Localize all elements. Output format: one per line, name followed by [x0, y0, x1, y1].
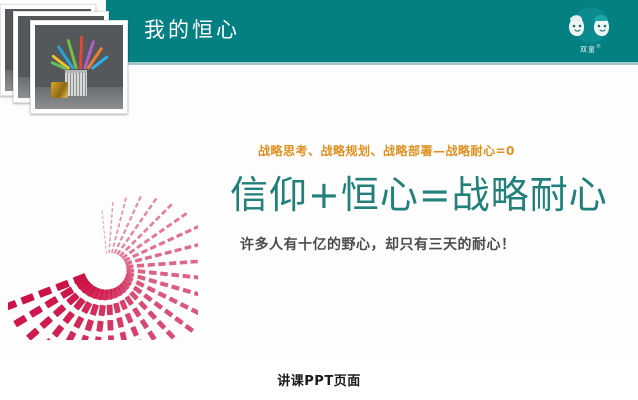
fan-dash [80, 335, 89, 340]
fan-dash [112, 202, 114, 206]
fan-dash [171, 273, 179, 278]
fan-dash [129, 216, 133, 221]
fan-dash [138, 269, 146, 274]
fan-dash [120, 331, 128, 340]
fan-dash [174, 247, 181, 252]
fan-dash [104, 231, 105, 234]
fan-dash [126, 222, 130, 227]
fan-dash [149, 270, 157, 275]
fan-dash [190, 260, 197, 264]
fan-dash [121, 243, 126, 249]
fan-dash [39, 316, 53, 329]
fan-dash [114, 236, 117, 241]
fan-dash [107, 320, 113, 331]
fan-dash [182, 288, 191, 294]
fan-dash [44, 296, 58, 308]
fan-dash [13, 315, 27, 327]
headline-text: 信仰+恒心=战略耐心 [230, 172, 610, 218]
fan-dash [146, 286, 155, 294]
fan-dash [53, 304, 67, 317]
fan-dash [182, 274, 190, 279]
fan-dash [160, 281, 169, 287]
brand-name-text: 双童 [580, 45, 596, 53]
fan-dash [26, 328, 40, 340]
fan-dash [148, 278, 157, 284]
kicker-text: 战略思考、战略规划、战略部署—战略耐心=0 [258, 142, 578, 159]
fan-dash [123, 229, 127, 234]
fan-dash [104, 236, 105, 239]
fan-dash [109, 243, 111, 247]
fan-dash [185, 228, 192, 234]
fan-dash [111, 249, 114, 254]
photo-stack [0, 4, 132, 116]
fan-dash [107, 305, 113, 316]
fan-dash [155, 253, 162, 258]
fan-dash [184, 245, 191, 250]
fan-dash [145, 255, 152, 260]
fan-dash [136, 339, 145, 340]
fan-dash [166, 223, 173, 229]
fan-dash [143, 293, 153, 302]
fan-dash [135, 258, 142, 263]
fan-dash [147, 330, 156, 340]
fan-dash [106, 250, 107, 253]
presentation-slide: 我的恒心 双童® [0, 0, 638, 359]
fan-dash [132, 209, 136, 214]
fan-dash [52, 324, 64, 337]
fan-dash [160, 272, 168, 277]
two-children-icon [558, 6, 624, 46]
photo-thumbnail [30, 20, 128, 114]
fan-dash [111, 220, 113, 224]
fan-dash [135, 203, 139, 208]
fan-dash [141, 249, 148, 255]
spiral-fan-svg [8, 160, 198, 340]
fan-dash [103, 226, 104, 229]
fan-dash [167, 203, 173, 209]
fan-dash [167, 236, 174, 242]
fan-dash [151, 233, 158, 239]
fan-dash [122, 204, 125, 209]
fan-dash [144, 238, 151, 244]
fan-dash [138, 196, 142, 201]
fan-dash [194, 242, 198, 247]
fan-dash [108, 335, 114, 340]
fan-dash [8, 300, 17, 311]
fan-dash [125, 245, 131, 251]
fan-dash [129, 248, 136, 254]
gold-object [51, 82, 68, 98]
fan-dash [113, 242, 116, 247]
fan-dash [171, 284, 180, 290]
fan-dash [132, 253, 139, 259]
fan-dash [173, 217, 180, 223]
straw-cup [65, 70, 87, 96]
fan-dash [194, 275, 198, 280]
fan-dash [111, 208, 113, 212]
registered-mark: ® [596, 44, 602, 50]
fan-dash [105, 245, 106, 248]
fan-dash [130, 326, 139, 337]
fan-dash [157, 320, 167, 330]
fan-dash [110, 226, 112, 230]
fan-dash [105, 240, 106, 243]
fan-dash [132, 307, 141, 318]
fan-dash [143, 227, 149, 233]
fan-dash [176, 232, 183, 238]
fan-dash [38, 286, 52, 297]
fan-dash [137, 264, 144, 268]
fan-dash [175, 339, 185, 340]
fan-dash [158, 291, 167, 299]
fan-dash [138, 300, 148, 310]
fan-dash [181, 212, 188, 218]
fan-dash [126, 264, 133, 268]
fan-dash [111, 214, 113, 218]
fan-dash [63, 311, 75, 324]
fan-dash [113, 302, 121, 313]
fan-dash [20, 293, 34, 304]
fan-dash [101, 211, 102, 214]
photo-image [35, 25, 123, 109]
fan-dash [124, 197, 127, 202]
fan-dash [152, 198, 157, 204]
fan-dash [85, 319, 94, 331]
fan-dash [150, 245, 157, 251]
fan-dash [143, 211, 148, 217]
slide-caption: 讲课PPT页面 [0, 370, 638, 389]
fan-dash [117, 242, 121, 247]
fan-dash [137, 275, 146, 281]
brand-name: 双童® [558, 44, 624, 54]
fan-dash [169, 261, 176, 265]
fan-dash [184, 324, 194, 333]
fan-dash [94, 336, 101, 340]
fan-dash [102, 216, 103, 219]
fan-dash [180, 260, 187, 264]
fan-dash [148, 204, 153, 210]
fan-dash [161, 209, 167, 215]
fan-dash [73, 316, 84, 329]
fan-dash [140, 319, 149, 330]
fan-dash [194, 291, 198, 297]
fan-dash [147, 310, 157, 320]
fan-dash [118, 223, 121, 228]
fan-dash [139, 217, 144, 223]
brand-logo: 双童® [558, 6, 624, 58]
fan-dash [134, 224, 139, 230]
fan-dash [148, 263, 155, 267]
fan-dash [110, 232, 112, 236]
fan-dash [98, 305, 105, 316]
fan-dash [155, 215, 161, 221]
fan-dash [153, 301, 163, 310]
fan-dash [130, 230, 135, 236]
fan-dash [174, 316, 184, 325]
fan-dash [116, 229, 119, 234]
fan-dash [41, 338, 53, 340]
fan-dash [125, 313, 134, 324]
fan-dash [164, 309, 174, 318]
fan-dash [116, 317, 124, 328]
fan-dash [137, 233, 143, 239]
spiral-fan-graphic [8, 160, 198, 340]
fan-dash [169, 297, 178, 305]
subline-text: 许多人有十亿的野心，却只有三天的耐心！ [240, 234, 580, 254]
fan-dash [120, 236, 124, 241]
fan-dash [193, 224, 198, 230]
page-title: 我的恒心 [144, 16, 240, 44]
fan-dash [108, 249, 110, 253]
fan-dash [164, 250, 171, 255]
fan-dash [158, 228, 165, 234]
header-band-shadow [106, 62, 638, 65]
fan-dash [119, 217, 122, 222]
fan-dash [125, 237, 130, 243]
fan-dash [158, 262, 165, 266]
fan-dash [96, 321, 103, 332]
fan-dash [109, 237, 111, 241]
fan-dash [158, 241, 165, 247]
slide-viewer: 我的恒心 双童® [0, 0, 638, 400]
fan-dash [29, 305, 43, 317]
fan-dash [131, 239, 137, 245]
fan-dash [191, 308, 198, 316]
fan-dash [136, 243, 143, 249]
fan-dash [102, 221, 103, 224]
fan-dash [65, 331, 76, 340]
fan-dash [121, 210, 124, 215]
fan-dash [149, 221, 155, 227]
fan-dash [166, 330, 176, 340]
fan-dash [180, 302, 189, 310]
